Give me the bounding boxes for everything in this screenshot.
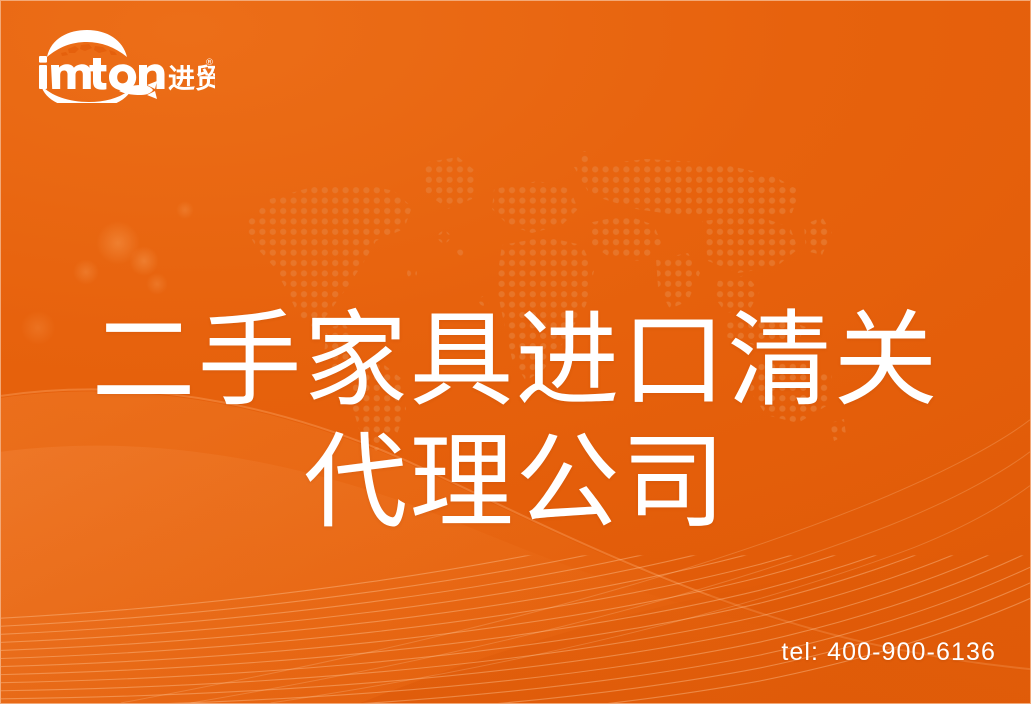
bokeh-circle — [146, 273, 168, 295]
wave-decoration — [1, 1, 1030, 703]
globe-arc-icon — [47, 30, 127, 57]
headline-line-1: 二手家具进口清关 — [1, 299, 1030, 422]
wave-shadow — [360, 549, 1030, 703]
wave-edge-line — [1, 389, 1030, 669]
logo-trademark: ® — [205, 58, 214, 68]
bokeh-layer — [1, 1, 1030, 703]
promo-banner: 进贸通 ® 二手家具进口清关 代理公司 tel: 400-900-6136 — [0, 0, 1031, 704]
imton-logo[interactable]: 进贸通 ® — [35, 29, 215, 103]
logo-wordmark-chinese: 进贸通 — [168, 64, 215, 95]
world-map-dots — [226, 133, 851, 453]
background-gradient — [1, 1, 1030, 703]
headline: 二手家具进口清关 代理公司 — [1, 299, 1030, 544]
bokeh-circle — [73, 259, 99, 285]
contact-phone[interactable]: tel: 400-900-6136 — [781, 638, 996, 667]
bokeh-circle — [96, 221, 140, 265]
logo-wordmark-latin — [39, 56, 165, 90]
headline-line-2: 代理公司 — [1, 421, 1030, 544]
bokeh-circle — [176, 201, 194, 219]
bokeh-circle — [21, 311, 55, 345]
bokeh-circle — [129, 246, 159, 276]
wave-band-highlight — [1, 389, 1030, 669]
